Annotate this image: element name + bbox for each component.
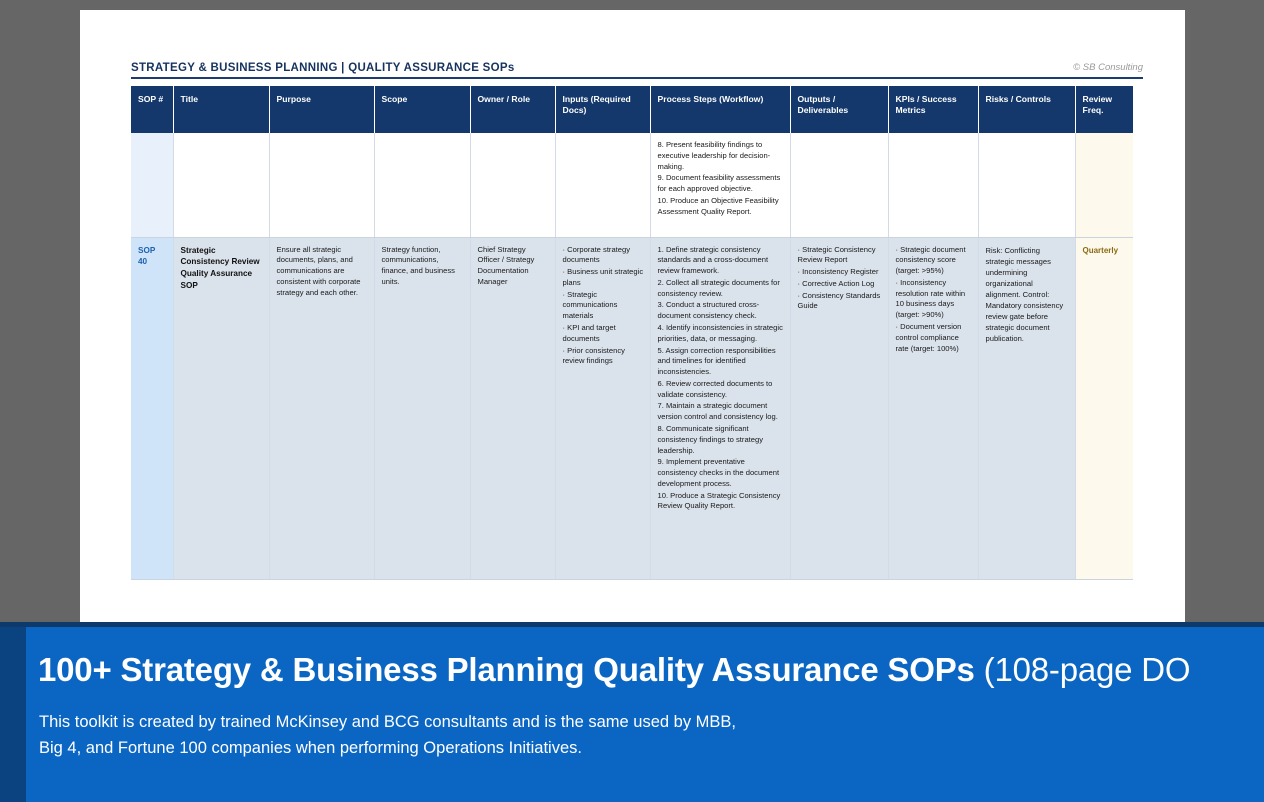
promo-subtitle: This toolkit is created by trained McKin…	[39, 710, 919, 761]
promo-title: 100+ Strategy & Business Planning Qualit…	[38, 651, 1264, 689]
col-header-review-freq[interactable]: Review Freq.	[1075, 86, 1133, 133]
sop-table: SOP # Title Purpose Scope Owner / Role I…	[131, 86, 1133, 580]
col-header-purpose[interactable]: Purpose	[269, 86, 374, 133]
cell-inputs: · Corporate strategy documents· Business…	[555, 237, 650, 579]
col-header-owner-role[interactable]: Owner / Role	[470, 86, 555, 133]
cell-outputs: · Strategic Consistency Review Report· I…	[790, 237, 888, 579]
cell-scope	[374, 133, 470, 237]
col-header-risks[interactable]: Risks / Controls	[978, 86, 1075, 133]
cell-inputs	[555, 133, 650, 237]
cell-sop-number: SOP 40	[131, 237, 173, 579]
cell-kpis: · Strategic document consistency score (…	[888, 237, 978, 579]
promo-title-suffix: (108-page DO	[975, 651, 1191, 688]
cell-outputs	[790, 133, 888, 237]
copyright-notice: © SB Consulting	[1073, 62, 1143, 74]
cell-kpis	[888, 133, 978, 237]
cell-owner-role: Chief Strategy Officer / Strategy Docume…	[470, 237, 555, 579]
cell-title: Strategic Consistency Review Quality Ass…	[173, 237, 269, 579]
table-row: 8. Present feasibility findings to execu…	[131, 133, 1133, 237]
cell-risks: Risk: Conflicting strategic messages und…	[978, 237, 1075, 579]
slide-canvas: STRATEGY & BUSINESS PLANNING | QUALITY A…	[80, 10, 1185, 622]
cell-review-freq: Quarterly	[1075, 237, 1133, 579]
cell-scope: Strategy function, communications, finan…	[374, 237, 470, 579]
cell-purpose	[269, 133, 374, 237]
cell-process-steps: 1. Define strategic consistency standard…	[650, 237, 790, 579]
cell-title	[173, 133, 269, 237]
cell-purpose: Ensure all strategic documents, plans, a…	[269, 237, 374, 579]
cell-sop-number	[131, 133, 173, 237]
col-header-sop-number[interactable]: SOP #	[131, 86, 173, 133]
col-header-scope[interactable]: Scope	[374, 86, 470, 133]
promo-banner: 100+ Strategy & Business Planning Qualit…	[0, 622, 1264, 802]
sop-table-container: SOP # Title Purpose Scope Owner / Role I…	[131, 86, 1133, 580]
table-row: SOP 40 Strategic Consistency Review Qual…	[131, 237, 1133, 579]
cell-process-steps: 8. Present feasibility findings to execu…	[650, 133, 790, 237]
slide-header: STRATEGY & BUSINESS PLANNING | QUALITY A…	[131, 62, 1143, 79]
col-header-kpis[interactable]: KPIs / Success Metrics	[888, 86, 978, 133]
promo-subtitle-line-2: Big 4, and Fortune 100 companies when pe…	[39, 736, 919, 762]
cell-review-freq	[1075, 133, 1133, 237]
col-header-outputs[interactable]: Outputs / Deliverables	[790, 86, 888, 133]
cell-risks	[978, 133, 1075, 237]
banner-left-accent-strip	[0, 627, 26, 802]
col-header-title[interactable]: Title	[173, 86, 269, 133]
col-header-process-steps[interactable]: Process Steps (Workflow)	[650, 86, 790, 133]
screenshot-root: STRATEGY & BUSINESS PLANNING | QUALITY A…	[0, 0, 1264, 802]
promo-subtitle-line-1: This toolkit is created by trained McKin…	[39, 710, 919, 736]
cell-owner-role	[470, 133, 555, 237]
promo-title-bold: 100+ Strategy & Business Planning Qualit…	[38, 651, 975, 688]
col-header-inputs[interactable]: Inputs (Required Docs)	[555, 86, 650, 133]
table-header-row: SOP # Title Purpose Scope Owner / Role I…	[131, 86, 1133, 133]
page-title: STRATEGY & BUSINESS PLANNING | QUALITY A…	[131, 62, 515, 74]
